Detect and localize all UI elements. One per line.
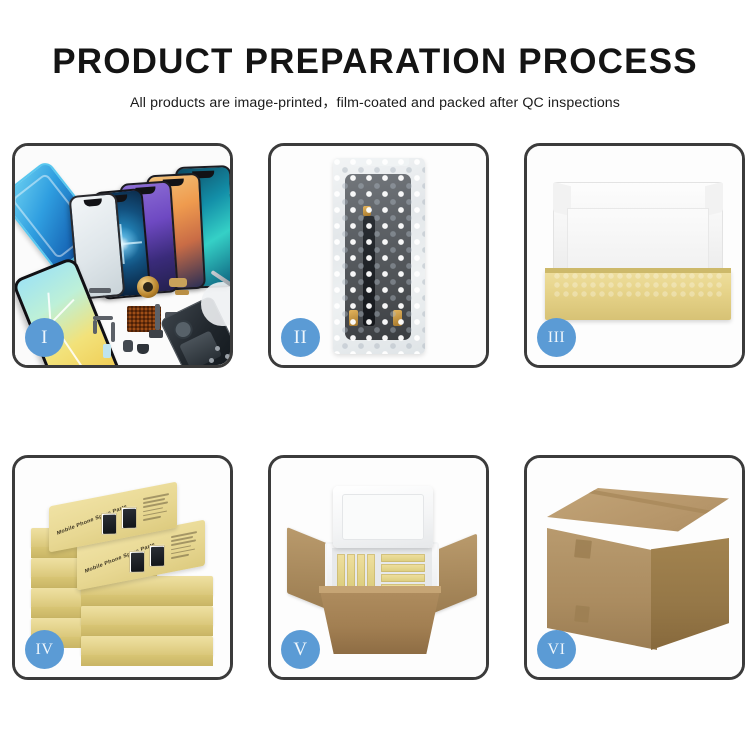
carton-front-panel [319, 586, 441, 654]
process-step-grid: I II [12, 143, 745, 691]
grey-bubble-wrap [553, 272, 723, 298]
sealing-tape [574, 539, 592, 559]
step-badge-4: IV [25, 630, 64, 669]
carton-side-face [651, 538, 729, 650]
step-badge-3: III [537, 318, 576, 357]
open-shipping-carton [295, 486, 471, 658]
step-badge-5: V [281, 630, 320, 669]
process-step-panel-2: II [268, 143, 489, 368]
header: PRODUCT PREPARATION PROCESS All products… [0, 0, 750, 112]
process-step-panel-6: VI [524, 455, 745, 680]
screw-graphic [209, 358, 214, 363]
sealing-tape [574, 605, 590, 622]
step-badge-2: II [281, 318, 320, 357]
product-preparation-infographic: PRODUCT PREPARATION PROCESS All products… [0, 0, 750, 750]
screw-graphic [215, 346, 220, 351]
sealed-shipping-carton [547, 488, 729, 656]
speaker-coil-graphic [137, 276, 159, 298]
screw-graphic [225, 354, 230, 359]
process-step-panel-5: V [268, 455, 489, 680]
mailer-lid [553, 182, 723, 278]
bubble-wrap-sleeve [333, 158, 425, 354]
process-step-panel-4: Mobile Phone Spare Parts Mobile Phone Sp… [12, 455, 233, 680]
retail-box-stack: Mobile Phone Spare Parts Mobile Phone Sp… [29, 480, 225, 662]
step-badge-6: VI [537, 630, 576, 669]
small-components-cluster [89, 274, 230, 365]
process-step-panel-3: III [524, 143, 745, 368]
open-mailer-box [545, 182, 731, 334]
page-title: PRODUCT PREPARATION PROCESS [0, 44, 750, 81]
page-subtitle: All products are image-printed，film-coat… [0, 92, 750, 112]
foam-box-lid [333, 486, 433, 548]
step-badge-1: I [25, 318, 64, 357]
process-step-panel-1: I [12, 143, 233, 368]
